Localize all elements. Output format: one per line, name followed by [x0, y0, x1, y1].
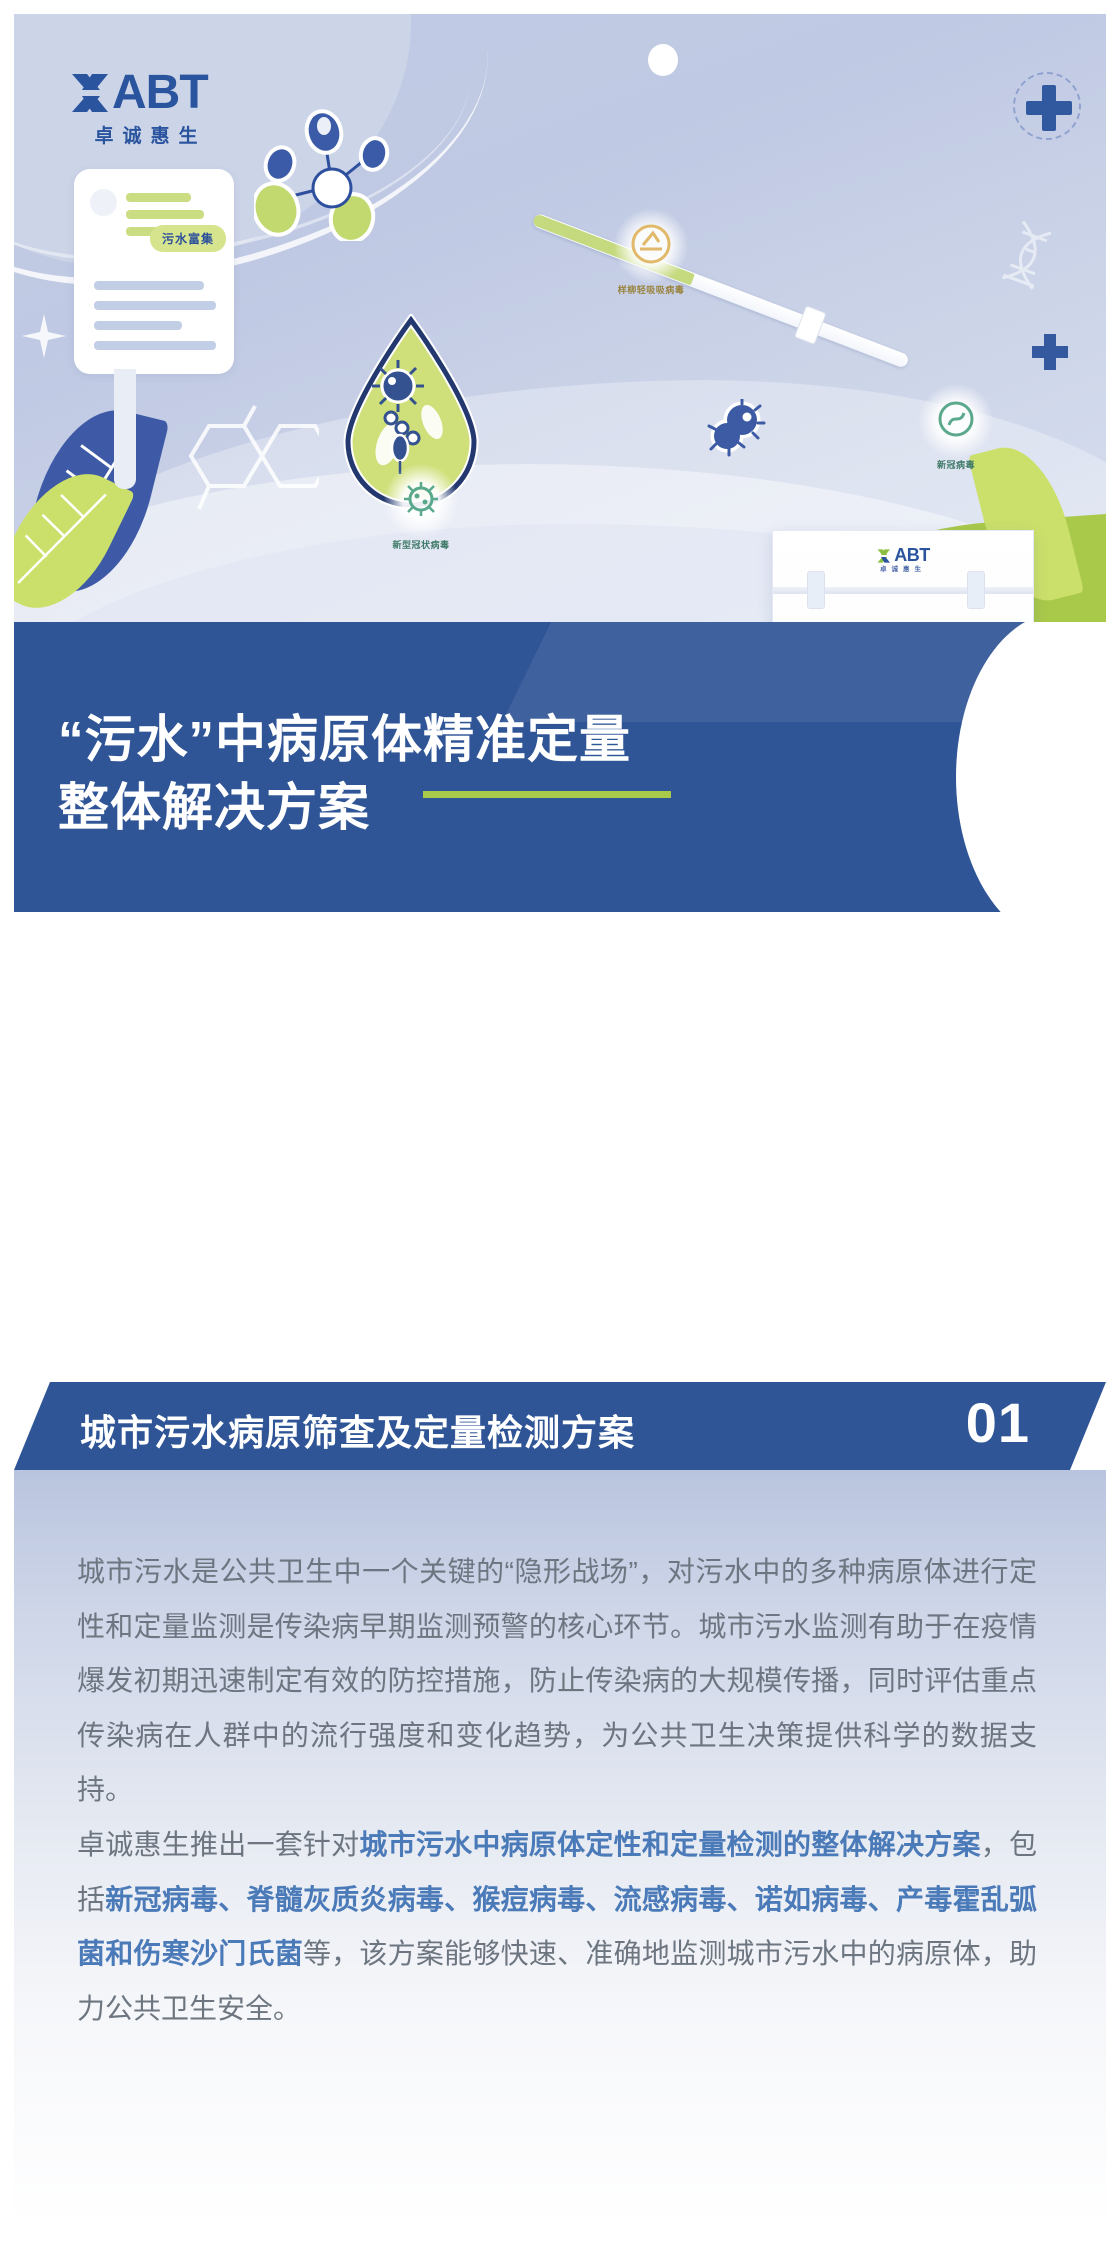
- rsv-virus-icon: [627, 220, 675, 268]
- hero-banner: ABT 卓诚惠生: [14, 14, 1106, 624]
- section-paragraphs: 城市污水是公共卫生中一个关键的“隐形战场”，对污水中的多种病原体进行定性和定量监…: [77, 1545, 1037, 2036]
- section-header: 城市污水病原筛查及定量检测方案 01: [14, 1382, 1106, 1470]
- logo-text: ABT: [112, 70, 208, 116]
- banner-title-line-1: “污水”中病原体精准定量: [58, 706, 878, 774]
- swab-icon: [530, 210, 911, 372]
- section-title: 城市污水病原筛查及定量检测方案: [80, 1404, 635, 1456]
- virus-badge-label: 新冠病毒: [903, 458, 1009, 471]
- logo-chinese-name: 卓诚惠生: [78, 121, 223, 148]
- p2-pre: 卓诚惠生推出一套针对: [77, 1829, 359, 1860]
- card-line: [94, 321, 182, 330]
- x-mark-icon: [70, 70, 110, 116]
- x-mark-icon: [876, 548, 891, 564]
- card-line: [94, 341, 216, 350]
- sample-tube-icon: [114, 369, 136, 489]
- report-card: [74, 169, 234, 374]
- device-clip-left: [807, 571, 825, 609]
- section-body: 城市污水是公共卫生中一个关键的“隐形战场”，对污水中的多种病原体进行定性和定量监…: [14, 1470, 1106, 2228]
- virus-badge-label: 样柳轻吸吸病毒: [598, 283, 704, 296]
- plus-horizontal: [1032, 346, 1068, 358]
- swab-band: [794, 305, 827, 345]
- p2-highlight-1: 城市污水中病原体定性和定量检测的整体解决方案: [359, 1829, 980, 1860]
- corona-virus-icon: [397, 475, 445, 523]
- poster-page: ABT 卓诚惠生: [0, 0, 1120, 2242]
- white-dot-decoration: [648, 44, 678, 76]
- brand-logo: ABT 卓诚惠生: [70, 70, 223, 148]
- hexagon-molecule-icon: [169, 404, 319, 524]
- plus-icon: [1032, 334, 1068, 370]
- virus-badge-corona: 新型冠状病毒: [384, 464, 458, 538]
- molecule-icon: [254, 106, 414, 241]
- banner-title-line-2: 整体解决方案: [58, 774, 878, 842]
- dna-helix-icon: [991, 219, 1051, 329]
- card-line: [94, 301, 216, 310]
- main-title-banner: “污水”中病原体精准定量 整体解决方案: [14, 622, 1106, 912]
- influenza-virus-icon: [932, 395, 980, 443]
- card-line: [126, 210, 204, 219]
- banner-title: “污水”中病原体精准定量 整体解决方案: [58, 706, 878, 843]
- plus-circle-icon: [1013, 72, 1081, 140]
- virus-badge-flu: 新冠病毒: [919, 384, 993, 458]
- paragraph-2: 卓诚惠生推出一套针对城市污水中病原体定性和定量检测的整体解决方案，包括新冠病毒、…: [77, 1818, 1037, 2036]
- card-line: [126, 193, 191, 202]
- star-icon: [22, 314, 66, 358]
- virus-badge-label: 新型冠状病毒: [368, 538, 474, 551]
- plus-horizontal: [1026, 101, 1072, 115]
- paragraph-1: 城市污水是公共卫生中一个关键的“隐形战场”，对污水中的多种病原体进行定性和定量监…: [77, 1545, 1037, 1818]
- device-logo-chinese: 卓诚惠生: [880, 563, 926, 573]
- section-number: 01: [966, 1390, 1030, 1455]
- avatar-placeholder: [90, 189, 117, 216]
- ptc-sc-device: ABT 卓诚惠生 PTC-SC 水质自动采样器: [772, 530, 1034, 624]
- virus-badge-rsv: 样柳轻吸吸病毒: [614, 209, 688, 283]
- device-clip-right: [967, 571, 985, 609]
- doc-badge: 污水富集: [150, 225, 226, 252]
- bacteria-icon: [704, 399, 768, 462]
- card-line: [94, 281, 204, 290]
